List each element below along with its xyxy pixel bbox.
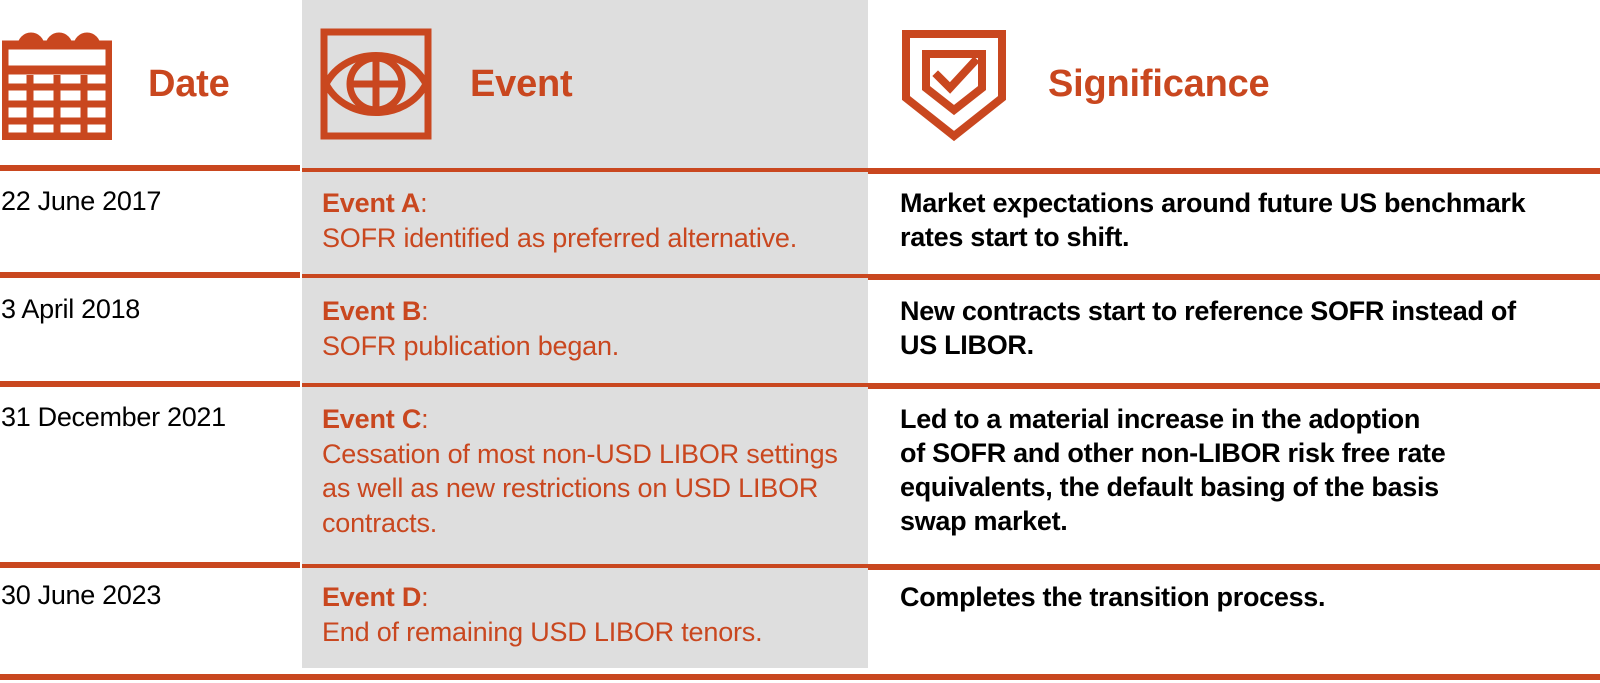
event-colon: : xyxy=(421,582,428,612)
row-divider-date xyxy=(0,381,300,387)
header-label-event: Event xyxy=(470,63,572,106)
row-divider-significance xyxy=(868,383,1600,389)
event-description: SOFR identified as preferred alternative… xyxy=(322,223,797,253)
cell-event: Event D: End of remaining USD LIBOR teno… xyxy=(302,580,868,649)
event-label: Event B xyxy=(322,296,421,326)
row-divider-top-significance xyxy=(868,168,1600,174)
event-colon: : xyxy=(420,188,427,218)
row-divider-date xyxy=(0,562,300,568)
significance-line: New contracts start to reference SOFR in… xyxy=(900,294,1576,328)
cell-significance: Market expectations around future US ben… xyxy=(868,186,1600,254)
header-label-date: Date xyxy=(148,63,230,106)
event-description: Cessation of most non-USD LIBOR settings… xyxy=(322,439,838,538)
header-label-significance: Significance xyxy=(1048,63,1269,106)
cell-event: Event A: SOFR identified as preferred al… xyxy=(302,186,868,255)
calendar-icon xyxy=(2,28,112,140)
event-colon: : xyxy=(421,404,428,434)
table-row: 30 June 2023 Event D: End of remaining U… xyxy=(0,580,1600,666)
event-label: Event A xyxy=(322,188,420,218)
cell-date: 31 December 2021 xyxy=(0,402,302,434)
significance-line: swap market. xyxy=(900,504,1576,538)
table-row: 22 June 2017 Event A: SOFR identified as… xyxy=(0,186,1600,272)
row-divider-top-date xyxy=(0,165,300,171)
row-divider-event xyxy=(302,274,868,278)
table-bottom-divider xyxy=(0,674,1600,680)
header-cell-event: Event xyxy=(302,0,868,168)
cell-significance: New contracts start to reference SOFR in… xyxy=(868,294,1600,362)
significance-line: rates start to shift. xyxy=(900,220,1576,254)
eye-icon xyxy=(320,28,432,140)
significance-line: Market expectations around future US ben… xyxy=(900,186,1576,220)
cell-significance: Completes the transition process. xyxy=(868,580,1600,614)
libor-transition-timeline-table: Date Event Sig xyxy=(0,0,1600,683)
event-label: Event D xyxy=(322,582,421,612)
table-row: 31 December 2021 Event C: Cessation of m… xyxy=(0,402,1600,562)
row-divider-top-event xyxy=(302,168,868,172)
event-description: End of remaining USD LIBOR tenors. xyxy=(322,617,762,647)
table-header: Date Event Sig xyxy=(0,0,1600,168)
header-cell-date: Date xyxy=(0,0,302,168)
table-row: 3 April 2018 Event B: SOFR publication b… xyxy=(0,294,1600,380)
event-colon: : xyxy=(421,296,428,326)
cell-significance: Led to a material increase in the adopti… xyxy=(868,402,1600,538)
cell-date: 22 June 2017 xyxy=(0,186,302,218)
cell-date: 3 April 2018 xyxy=(0,294,302,326)
significance-line: of SOFR and other non-LIBOR risk free ra… xyxy=(900,436,1576,470)
row-divider-significance xyxy=(868,274,1600,280)
row-divider-event xyxy=(302,383,868,387)
row-divider-event xyxy=(302,564,868,568)
row-divider-significance xyxy=(868,564,1600,570)
shield-check-icon xyxy=(898,26,1010,142)
cell-event: Event B: SOFR publication began. xyxy=(302,294,868,363)
significance-line: Led to a material increase in the adopti… xyxy=(900,402,1576,436)
significance-line: US LIBOR. xyxy=(900,328,1576,362)
event-label: Event C xyxy=(322,404,421,434)
significance-line: Completes the transition process. xyxy=(900,580,1576,614)
event-description: SOFR publication began. xyxy=(322,331,619,361)
header-cell-significance: Significance xyxy=(868,0,1600,168)
cell-date: 30 June 2023 xyxy=(0,580,302,612)
row-divider-date xyxy=(0,272,300,278)
significance-line: equivalents, the default basing of the b… xyxy=(900,470,1576,504)
cell-event: Event C: Cessation of most non-USD LIBOR… xyxy=(302,402,868,540)
